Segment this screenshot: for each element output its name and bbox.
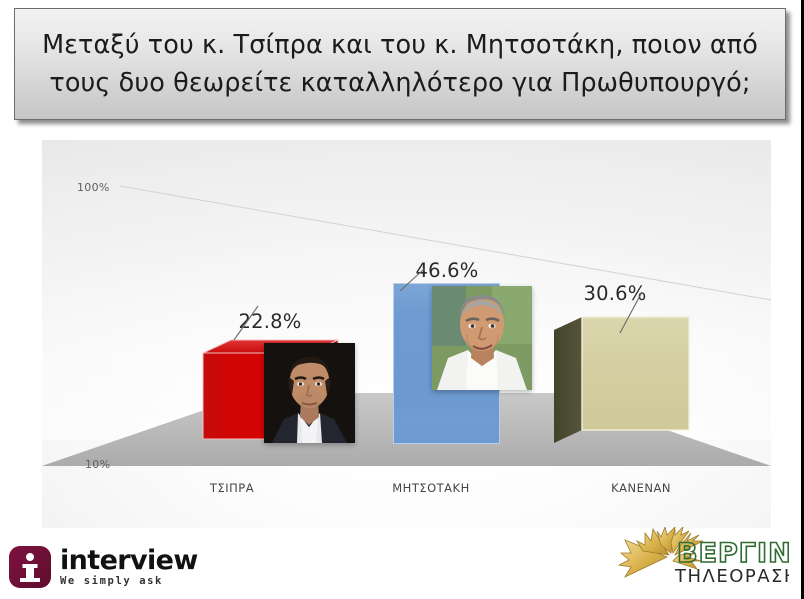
vergina-brand-text: ΒΕΡΓΙΝΑ (677, 538, 789, 569)
slide-canvas: Μεταξύ του κ. Τσίπρα και του κ. Μητσοτάκ… (0, 0, 804, 599)
chart-title-box: Μεταξύ του κ. Τσίπρα και του κ. Μητσοτάκ… (14, 8, 786, 120)
vergina-tv-logo: ΒΕΡΓΙΝΑ ΤΗΛΕΟΡΑΣΗ (617, 527, 789, 589)
info-icon (9, 546, 51, 588)
interview-logo: interview We simply ask (9, 546, 198, 588)
vergina-subtitle-text: ΤΗΛΕΟΡΑΣΗ (674, 566, 789, 587)
interview-tagline: We simply ask (60, 575, 198, 588)
chart-title-line-2: τους δυο θεωρείτε καταλληλότερο για Πρωθ… (49, 64, 750, 102)
chart-title-line-1: Μεταξύ του κ. Τσίπρα και του κ. Μητσοτάκ… (42, 26, 758, 64)
bar-chart: 100% 10% (42, 140, 771, 528)
chart-leader-lines (42, 140, 771, 528)
interview-wordmark: interview (60, 547, 198, 575)
